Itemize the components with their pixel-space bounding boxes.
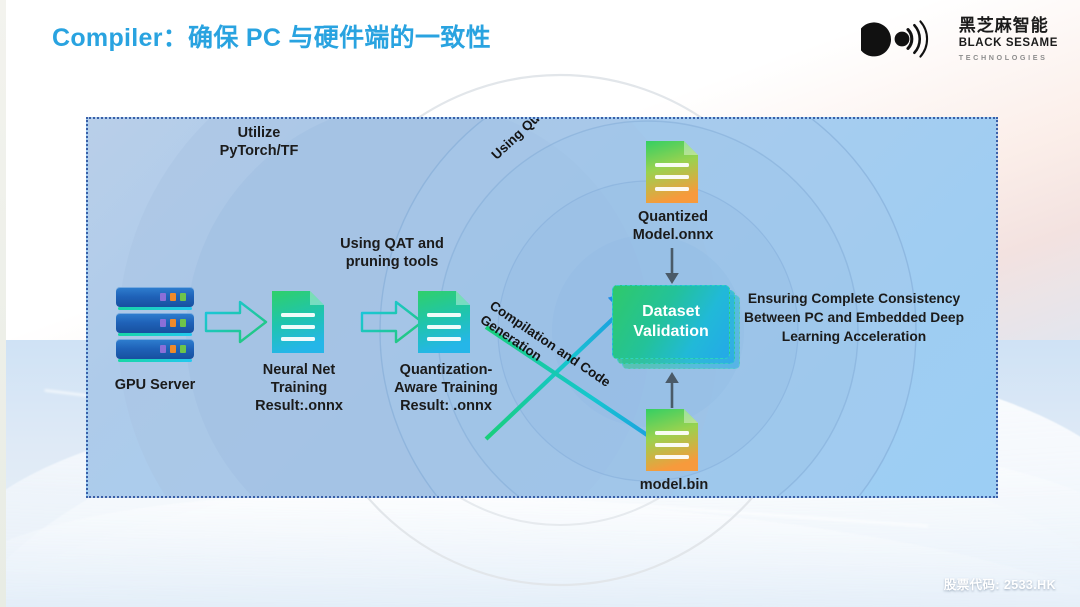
model-bin-label: model.bin [604,477,744,495]
server-stack-icon [116,287,194,359]
slide-left-edge [0,0,6,607]
arrow-up-icon [662,370,682,408]
logo-wordmark: 黑芝麻智能 BLACK SESAME TECHNOLOGIES [959,17,1058,61]
stock-code: 股票代码: 2533.HK [944,574,1056,593]
arrow-down-icon [662,248,682,286]
logo-en-text: BLACK SESAME [959,38,1058,50]
logo-sub-text: TECHNOLOGIES [959,54,1058,61]
neural-net-label: Neural Net Training Result:.onnx [236,362,362,416]
qat-pruning-label: Using QAT and pruning tools [308,236,476,272]
server-unit-2 [116,313,194,333]
neural-net-document-icon [270,289,326,355]
black-sesame-logo-icon [861,16,947,62]
gpu-server-label: GPU Server [96,377,214,395]
quantized-model-label: Quantized Model.onnx [600,209,746,245]
dataset-validation-line1: Dataset [642,302,700,322]
logo-cn-text: 黑芝麻智能 [959,17,1058,34]
slide-root: Compiler：确保 PC 与硬件端的一致性 黑芝麻智能 BLACK SESA… [0,0,1080,607]
server-unit-3 [116,339,194,359]
page-title: Compiler：确保 PC 与硬件端的一致性 [52,18,491,54]
server-leds-1 [160,293,186,301]
dataset-validation-box[interactable]: Dataset Validation [612,285,728,357]
hollow-arrow-1-icon [204,297,270,347]
diagram-panel: GPU Server Utilize PyTorch/TF [86,117,998,498]
server-unit-1 [116,287,194,307]
brand-logo: 黑芝麻智能 BLACK SESAME TECHNOLOGIES [861,16,1058,62]
utilize-pytorch-label: Utilize PyTorch/TF [194,125,324,161]
model-bin-document-icon [644,407,700,473]
qat-document-icon [416,289,472,355]
summary-text: Ensuring Complete Consistency Between PC… [736,289,972,346]
dataset-validation-layer-front: Dataset Validation [612,285,730,359]
server-leds-3 [160,345,186,353]
dataset-validation-line2: Validation [633,322,709,342]
server-leds-2 [160,319,186,327]
quantized-model-document-icon [644,139,700,205]
dataset-validation-text: Dataset Validation [613,286,729,358]
